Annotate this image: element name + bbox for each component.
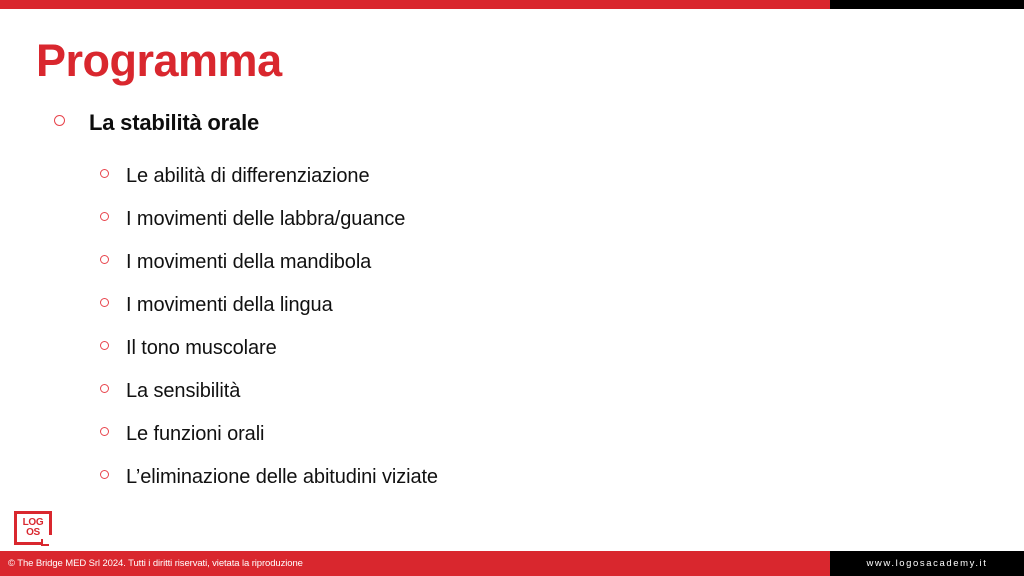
- list-item: Le abilità di differenziazione: [100, 164, 1024, 188]
- list-item: L’eliminazione delle abitudini viziate: [100, 465, 1024, 489]
- circle-bullet-icon: [100, 427, 109, 436]
- footer-copyright-bar: © The Bridge MED Srl 2024. Tutti i dirit…: [0, 551, 830, 576]
- list-item-label: Le funzioni orali: [126, 422, 264, 446]
- list-item-label: L’eliminazione delle abitudini viziate: [126, 465, 438, 489]
- list-item-label: Il tono muscolare: [126, 336, 277, 360]
- content-body: La stabilità orale Le abilità di differe…: [0, 110, 1024, 508]
- list-item: I movimenti della lingua: [100, 293, 1024, 317]
- list-item-label: I movimenti della mandibola: [126, 250, 371, 274]
- logos-logo: LOG OS: [14, 511, 52, 545]
- top-bar-black: [830, 0, 1024, 9]
- circle-bullet-icon: [100, 298, 109, 307]
- footer: © The Bridge MED Srl 2024. Tutti i dirit…: [0, 551, 1024, 576]
- list-item: Le funzioni orali: [100, 422, 1024, 446]
- logo-corner-notch: [41, 535, 53, 546]
- circle-bullet-icon: [100, 470, 109, 479]
- logo-line-2: OS: [26, 528, 40, 538]
- circle-bullet-icon: [100, 212, 109, 221]
- circle-bullet-icon: [100, 169, 109, 178]
- list-item: La sensibilità: [100, 379, 1024, 403]
- circle-bullet-icon: [100, 384, 109, 393]
- sublist-level2: Le abilità di differenziazione I movimen…: [100, 164, 1024, 489]
- circle-bullet-icon: [100, 255, 109, 264]
- top-bar-red: [0, 0, 830, 9]
- circle-bullet-icon: [100, 341, 109, 350]
- list-item-label: La sensibilità: [126, 379, 240, 403]
- slide: Programma La stabilità orale Le abilità …: [0, 0, 1024, 576]
- list-item-label: I movimenti delle labbra/guance: [126, 207, 405, 231]
- list-item: I movimenti della mandibola: [100, 250, 1024, 274]
- list-item-label: Le abilità di differenziazione: [126, 164, 369, 188]
- footer-website-bar: www.logosacademy.it: [830, 551, 1024, 576]
- list-item: Il tono muscolare: [100, 336, 1024, 360]
- list-item-level1-label: La stabilità orale: [89, 110, 259, 136]
- list-item: I movimenti delle labbra/guance: [100, 207, 1024, 231]
- page-title: Programma: [36, 36, 282, 86]
- list-item-label: I movimenti della lingua: [126, 293, 333, 317]
- footer-copyright-text: © The Bridge MED Srl 2024. Tutti i dirit…: [0, 558, 303, 569]
- footer-website-text: www.logosacademy.it: [866, 558, 987, 569]
- list-item-level1: La stabilità orale: [54, 110, 1024, 136]
- circle-bullet-icon: [54, 115, 65, 126]
